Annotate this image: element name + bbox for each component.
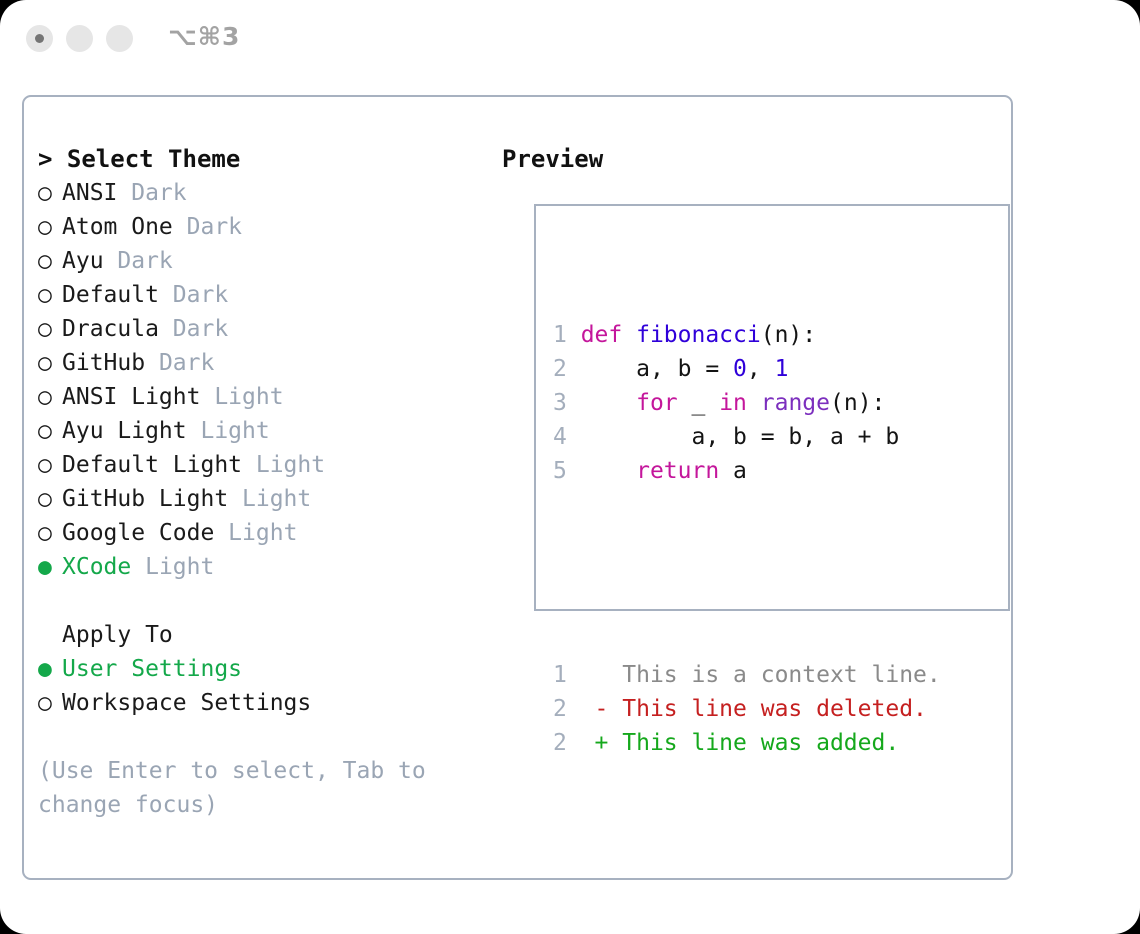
- code-token-kw: def: [581, 322, 636, 348]
- radio-unselected-icon: ○: [38, 346, 62, 380]
- radio-unselected-icon: ○: [38, 516, 62, 550]
- code-line: 3 for _ in range(n):: [553, 386, 941, 420]
- code-line-number: 2: [553, 356, 581, 382]
- theme-option-kind: Dark: [145, 350, 214, 376]
- window-titlebar: ⌥⌘3: [0, 0, 1140, 78]
- code-token-pln: [581, 458, 636, 484]
- theme-option-dracula[interactable]: ○ Dracula Dark: [38, 312, 488, 346]
- diff-marker: +: [595, 730, 623, 756]
- apply-to-option-label: Workspace Settings: [62, 690, 311, 716]
- radio-unselected-icon: ○: [38, 482, 62, 516]
- theme-option-kind: Light: [200, 384, 283, 410]
- theme-list-column: > Select Theme ○ ANSI Dark○ Atom One Dar…: [38, 142, 488, 822]
- apply-to-heading: Apply To: [38, 618, 488, 652]
- theme-option-label: Ayu Light: [62, 418, 187, 444]
- diff-line-number: 2: [553, 696, 595, 722]
- theme-option-label: ANSI Light: [62, 384, 200, 410]
- hint-spacer: [38, 720, 488, 754]
- diff-line-ctx: 1 This is a context line.: [553, 658, 941, 692]
- preview-code: 1 def fibonacci(n):2 a, b = 0, 13 for _ …: [553, 250, 941, 828]
- radio-unselected-icon: ○: [38, 448, 62, 482]
- diff-line-number: 1: [553, 662, 595, 688]
- theme-option-ayu[interactable]: ○ Ayu Dark: [38, 244, 488, 278]
- window-dot-2[interactable]: [66, 25, 93, 52]
- theme-option-kind: Dark: [173, 214, 242, 240]
- keyboard-hint-text: (Use Enter to select, Tab to change focu…: [38, 754, 448, 822]
- theme-option-kind: Light: [242, 452, 325, 478]
- theme-option-label: ANSI: [62, 180, 117, 206]
- theme-option-xcode[interactable]: ● XCode Light: [38, 550, 488, 584]
- apply-to-option-workspace-settings[interactable]: ○ Workspace Settings: [38, 686, 488, 720]
- theme-option-kind: Dark: [104, 248, 173, 274]
- radio-unselected-icon: ○: [38, 414, 62, 448]
- theme-option-google-code[interactable]: ○ Google Code Light: [38, 516, 488, 550]
- diff-line-del: 2 - This line was deleted.: [553, 692, 941, 726]
- diff-line-number: 2: [553, 730, 595, 756]
- app-window: ⌥⌘3 > Select Theme ○ ANSI Dark○ Atom One…: [0, 0, 1140, 934]
- theme-option-kind: Dark: [159, 282, 228, 308]
- code-token-num: 0: [733, 356, 747, 382]
- code-token-pln: a, b = b, a + b: [581, 424, 900, 450]
- code-line-number: 5: [553, 458, 581, 484]
- theme-option-label: XCode: [62, 554, 131, 580]
- theme-selector-panel: > Select Theme ○ ANSI Dark○ Atom One Dar…: [22, 95, 1013, 880]
- theme-option-label: Atom One: [62, 214, 173, 240]
- code-token-pln: (n):: [761, 322, 816, 348]
- window-dot-active[interactable]: [26, 25, 53, 52]
- code-token-num: 1: [775, 356, 789, 382]
- code-token-kw: return: [636, 458, 719, 484]
- preview-column: Preview 1 def fibonacci(n):2 a, b = 0, 1…: [502, 142, 1002, 176]
- radio-unselected-icon: ○: [38, 244, 62, 278]
- theme-option-kind: Light: [187, 418, 270, 444]
- apply-to-option-list: ● User Settings○ Workspace Settings: [38, 652, 488, 720]
- theme-option-label: GitHub: [62, 350, 145, 376]
- radio-unselected-icon: ○: [38, 312, 62, 346]
- diff-marker: [595, 662, 623, 688]
- theme-option-kind: Dark: [117, 180, 186, 206]
- code-token-kw: for: [636, 390, 678, 416]
- code-token-fn: fibonacci: [636, 322, 761, 348]
- window-dot-active-inner: [35, 34, 44, 43]
- code-line-number: 4: [553, 424, 581, 450]
- code-line-number: 3: [553, 390, 581, 416]
- code-token-pln: _: [678, 390, 720, 416]
- theme-option-label: Dracula: [62, 316, 159, 342]
- theme-option-kind: Light: [228, 486, 311, 512]
- code-token-pln: ,: [747, 356, 775, 382]
- radio-selected-icon: ●: [38, 652, 62, 686]
- code-line: 1 def fibonacci(n):: [553, 318, 941, 352]
- theme-option-label: Google Code: [62, 520, 214, 546]
- theme-option-kind: Light: [214, 520, 297, 546]
- apply-to-heading-indent: [38, 618, 62, 652]
- radio-unselected-icon: ○: [38, 278, 62, 312]
- apply-to-option-label: User Settings: [62, 656, 242, 682]
- code-line: 5 return a: [553, 454, 941, 488]
- code-blank-line: [553, 556, 941, 590]
- diff-text: This line was added.: [622, 730, 899, 756]
- theme-option-label: Default: [62, 282, 159, 308]
- code-line-number: 1: [553, 322, 581, 348]
- theme-option-default-light[interactable]: ○ Default Light Light: [38, 448, 488, 482]
- preview-heading: Preview: [502, 142, 1002, 176]
- code-token-pln: [747, 390, 761, 416]
- code-token-pln: (n):: [830, 390, 885, 416]
- radio-unselected-icon: ○: [38, 176, 62, 210]
- theme-option-label: Ayu: [62, 248, 104, 274]
- diff-text: This line was deleted.: [622, 696, 927, 722]
- preview-box: 1 def fibonacci(n):2 a, b = 0, 13 for _ …: [534, 204, 1010, 611]
- code-line: 4 a, b = b, a + b: [553, 420, 941, 454]
- radio-unselected-icon: ○: [38, 380, 62, 414]
- diff-text: This is a context line.: [622, 662, 941, 688]
- apply-to-heading-label: Apply To: [62, 622, 173, 648]
- radio-unselected-icon: ○: [38, 686, 62, 720]
- diff-lines: 1 This is a context line.2 - This line w…: [553, 658, 941, 760]
- theme-option-list: ○ ANSI Dark○ Atom One Dark○ Ayu Dark○ De…: [38, 176, 488, 584]
- radio-selected-icon: ●: [38, 550, 62, 584]
- code-token-pln: a, b =: [581, 356, 733, 382]
- code-token-pln: [581, 390, 636, 416]
- theme-option-ansi-light[interactable]: ○ ANSI Light Light: [38, 380, 488, 414]
- code-lines: 1 def fibonacci(n):2 a, b = 0, 13 for _ …: [553, 318, 941, 488]
- theme-option-atom-one[interactable]: ○ Atom One Dark: [38, 210, 488, 244]
- theme-option-github-light[interactable]: ○ GitHub Light Light: [38, 482, 488, 516]
- code-token-kw: in: [719, 390, 747, 416]
- window-dot-3[interactable]: [106, 25, 133, 52]
- select-theme-heading: > Select Theme: [38, 142, 488, 176]
- keyboard-shortcut-label: ⌥⌘3: [168, 22, 240, 51]
- radio-unselected-icon: ○: [38, 210, 62, 244]
- theme-option-ayu-light[interactable]: ○ Ayu Light Light: [38, 414, 488, 448]
- code-token-call: range: [761, 390, 830, 416]
- theme-option-kind: Dark: [159, 316, 228, 342]
- theme-option-ansi[interactable]: ○ ANSI Dark: [38, 176, 488, 210]
- theme-option-kind: Light: [131, 554, 214, 580]
- diff-line-add: 2 + This line was added.: [553, 726, 941, 760]
- code-token-pln: a: [719, 458, 747, 484]
- theme-option-default[interactable]: ○ Default Dark: [38, 278, 488, 312]
- code-line: 2 a, b = 0, 1: [553, 352, 941, 386]
- theme-option-label: GitHub Light: [62, 486, 228, 512]
- list-spacer: [38, 584, 488, 618]
- diff-marker: -: [595, 696, 623, 722]
- theme-option-github[interactable]: ○ GitHub Dark: [38, 346, 488, 380]
- apply-to-option-user-settings[interactable]: ● User Settings: [38, 652, 488, 686]
- theme-option-label: Default Light: [62, 452, 242, 478]
